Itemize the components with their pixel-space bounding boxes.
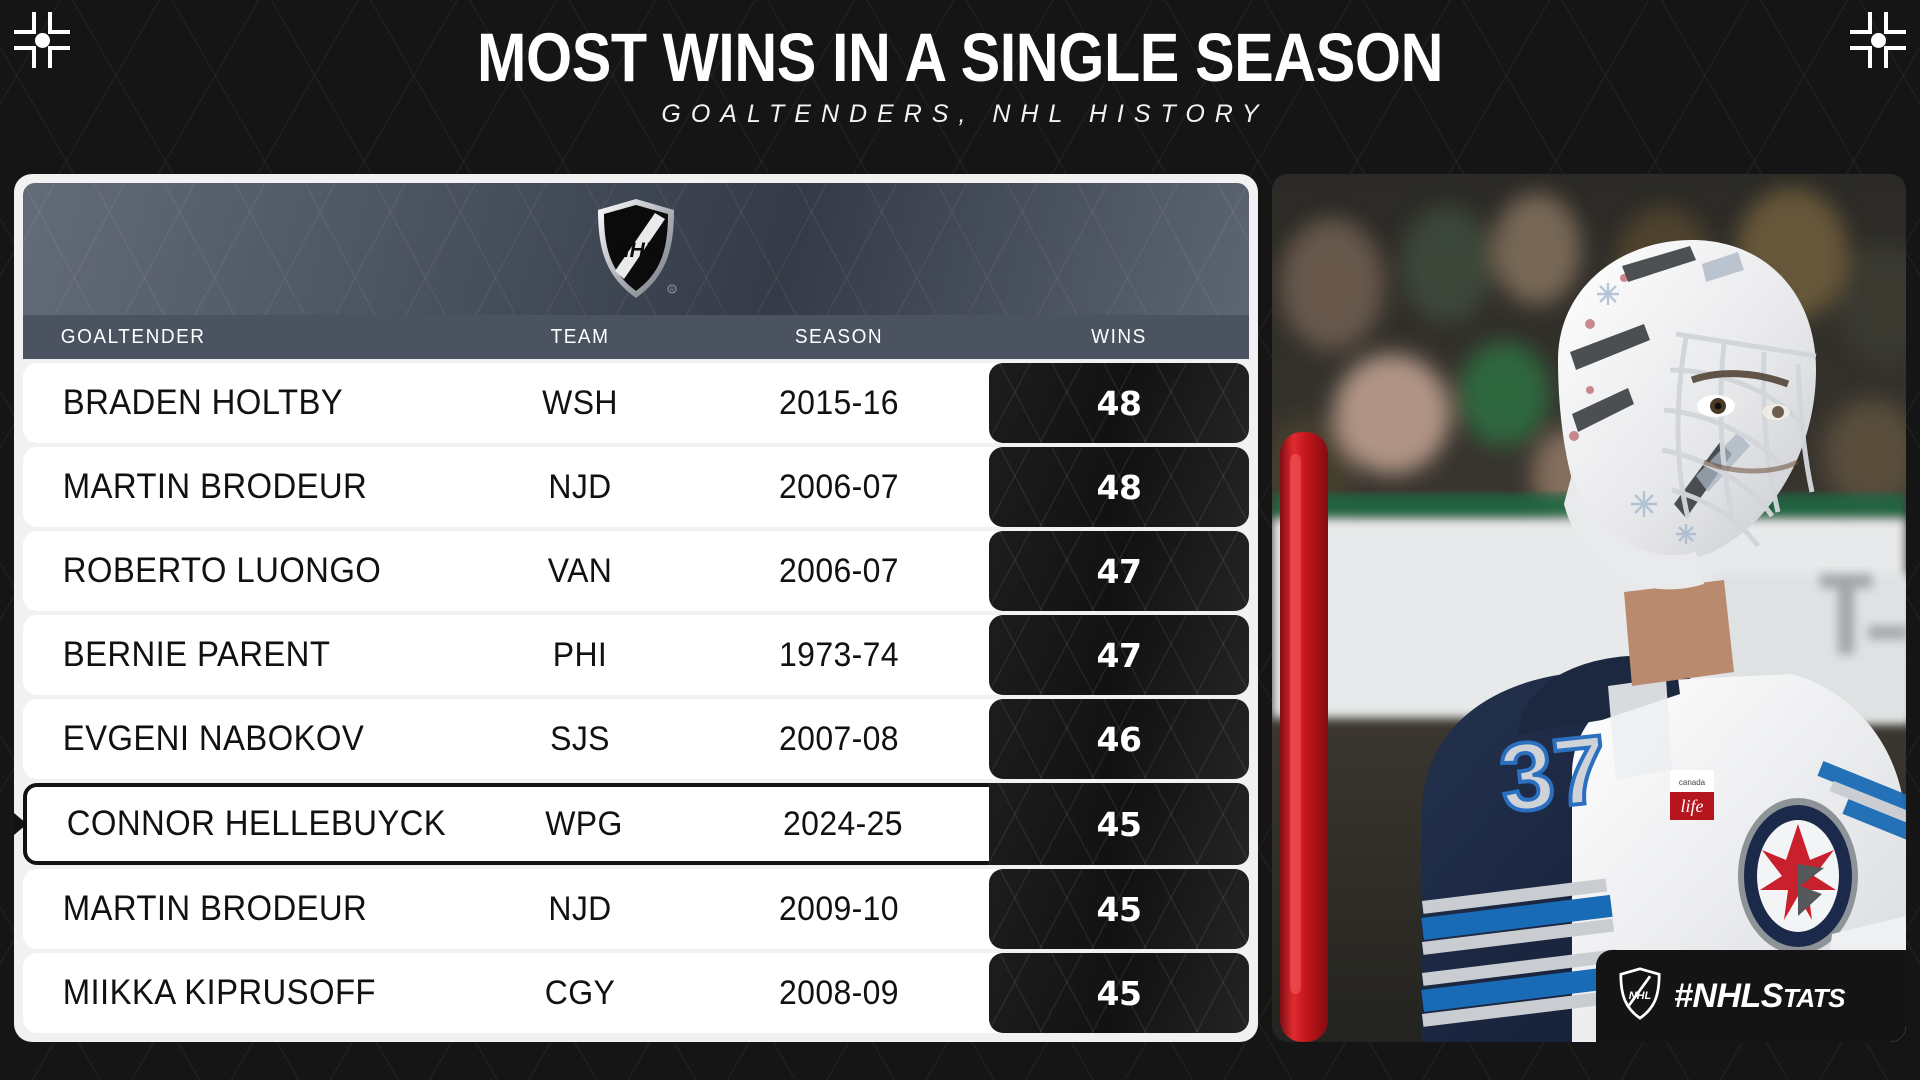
- column-header-wins: WINS: [996, 326, 1243, 349]
- nhlstats-hash: #NHL: [1674, 977, 1761, 1015]
- team-logo: [1738, 798, 1858, 954]
- wins-value: 45: [1097, 805, 1142, 844]
- wins-value: 48: [1097, 384, 1142, 423]
- row-highlight-marker-icon: [14, 813, 27, 835]
- table-row[interactable]: MARTIN BRODEURNJD2006-0748: [23, 447, 1249, 527]
- cell-season: 2008-09: [698, 974, 980, 1013]
- svg-text:NHL: NHL: [1629, 990, 1652, 1002]
- photo-illustration: 37 canada life: [1272, 174, 1906, 1042]
- cell-goaltender: CONNOR HELLEBUYCK: [40, 804, 461, 844]
- cell-team: WSH: [478, 384, 683, 423]
- nhlstats-wordmark: #NHLSTATS: [1674, 977, 1845, 1016]
- svg-text:R: R: [670, 288, 674, 294]
- cell-goaltender: MARTIN BRODEUR: [36, 467, 457, 507]
- table-header-row: GOALTENDER TEAM SEASON WINS: [23, 315, 1249, 359]
- cell-team: SJS: [478, 720, 683, 759]
- cell-team: CGY: [478, 974, 683, 1013]
- nhlstats-s: S: [1761, 977, 1783, 1015]
- cell-season: 2009-10: [698, 890, 980, 929]
- jersey-number: 37: [1495, 715, 1612, 833]
- cell-season: 2024-25: [702, 805, 984, 844]
- cell-team: NJD: [478, 468, 683, 507]
- cell-team: PHI: [478, 636, 683, 675]
- svg-text:life: life: [1681, 796, 1704, 816]
- wins-value: 45: [1097, 974, 1142, 1013]
- wins-value: 45: [1097, 890, 1142, 929]
- table-row[interactable]: MIIKKA KIPRUSOFFCGY2008-0945: [23, 953, 1249, 1033]
- cell-season: 2007-08: [698, 720, 980, 759]
- nhlstats-tail: TATS: [1783, 983, 1845, 1013]
- table-row[interactable]: EVGENI NABOKOVSJS2007-0846: [23, 699, 1249, 779]
- cell-goaltender: BRADEN HOLTBY: [36, 383, 457, 423]
- cell-team: NJD: [478, 890, 683, 929]
- wins-badge: 45: [989, 869, 1249, 949]
- sponsor-patch: canada life: [1670, 770, 1714, 820]
- cell-season: 1973-74: [698, 636, 980, 675]
- table-row[interactable]: BERNIE PARENTPHI1973-7447: [23, 615, 1249, 695]
- table-body: BRADEN HOLTBYWSH2015-1648MARTIN BRODEURN…: [23, 359, 1249, 1033]
- table-row[interactable]: MARTIN BRODEURNJD2009-1045: [23, 869, 1249, 949]
- table-row[interactable]: BRADEN HOLTBYWSH2015-1648: [23, 363, 1249, 443]
- cell-goaltender: MIIKKA KIPRUSOFF: [36, 973, 457, 1013]
- nhl-shield-icon: NHL R: [593, 197, 679, 301]
- wins-value: 48: [1097, 468, 1142, 507]
- nhlstats-shield-icon: NHL: [1618, 967, 1662, 1025]
- graphic-canvas: MOST WINS IN A SINGLE SEASON GOALTENDERS…: [0, 0, 1920, 1080]
- cell-goaltender: ROBERTO LUONGO: [36, 551, 457, 591]
- cell-team: WPG: [482, 805, 687, 844]
- table-row[interactable]: CONNOR HELLEBUYCKWPG2024-2545: [23, 783, 1249, 865]
- stats-table-card: NHL R GOALTENDER TEAM SEASON WINS BRADEN…: [14, 174, 1258, 1042]
- player-photo: 37 canada life: [1272, 174, 1906, 1042]
- nhlstats-badge: NHL #NHLSTATS: [1596, 950, 1906, 1042]
- wins-badge: 48: [989, 447, 1249, 527]
- cell-team: VAN: [478, 552, 683, 591]
- cell-goaltender: BERNIE PARENT: [36, 635, 457, 675]
- table-banner: NHL R: [23, 183, 1249, 315]
- svg-text:canada: canada: [1679, 778, 1706, 787]
- cell-season: 2006-07: [698, 552, 980, 591]
- wins-value: 46: [1097, 720, 1142, 759]
- wins-value: 47: [1097, 636, 1142, 675]
- wins-value: 47: [1097, 552, 1142, 591]
- wins-badge: 46: [989, 699, 1249, 779]
- wins-badge: 47: [989, 615, 1249, 695]
- cell-goaltender: MARTIN BRODEUR: [36, 889, 457, 929]
- wins-badge: 48: [989, 363, 1249, 443]
- cell-goaltender: EVGENI NABOKOV: [36, 719, 457, 759]
- cell-season: 2015-16: [698, 384, 980, 423]
- wins-badge: 47: [989, 531, 1249, 611]
- page-title: MOST WINS IN A SINGLE SEASON: [134, 22, 1785, 94]
- wins-badge: 45: [989, 783, 1249, 865]
- column-header-team: TEAM: [476, 326, 683, 349]
- page-subtitle: GOALTENDERS, NHL HISTORY: [0, 100, 1920, 129]
- column-header-goaltender: GOALTENDER: [34, 326, 460, 349]
- table-row[interactable]: ROBERTO LUONGOVAN2006-0747: [23, 531, 1249, 611]
- cell-season: 2006-07: [698, 468, 980, 507]
- wins-badge: 45: [989, 953, 1249, 1033]
- svg-text:NHL: NHL: [614, 239, 657, 262]
- header: MOST WINS IN A SINGLE SEASON GOALTENDERS…: [0, 22, 1920, 129]
- column-header-season: SEASON: [697, 326, 982, 349]
